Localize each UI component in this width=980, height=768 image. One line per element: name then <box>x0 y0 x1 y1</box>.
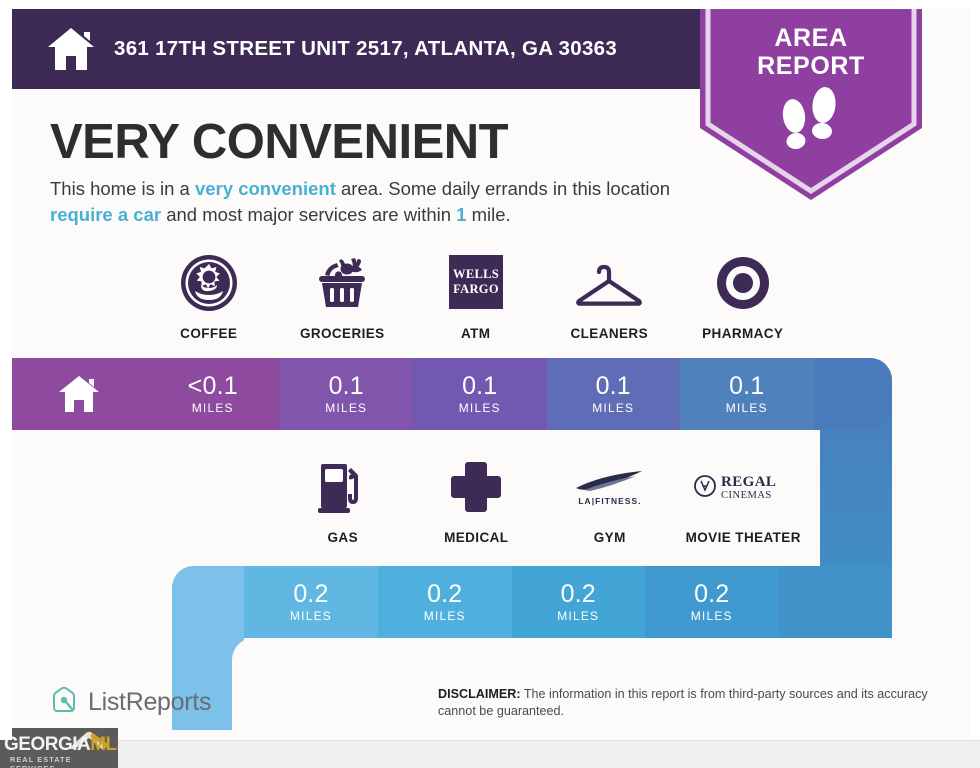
address-header: 361 17TH STREET UNIT 2517, ATLANTA, GA 3… <box>12 9 712 89</box>
clothes-hanger-icon <box>573 252 645 314</box>
bar2-tail-right <box>779 566 893 638</box>
distance-unit: MILES <box>424 609 466 623</box>
page-title: VERY CONVENIENT <box>50 114 508 170</box>
georgia-mls-watermark: GEORGIAMLS REAL ESTATE SERVICES <box>0 728 118 768</box>
distance-value: 0.1 <box>729 373 764 400</box>
distance-cell-groceries: 0.1 MILES <box>280 358 414 430</box>
amenity-icons-row-2: GAS MEDICAL LA|FITNESS. GYM <box>276 456 810 545</box>
watermark-title: GEORGIAMLS <box>4 734 118 756</box>
distance-unit: MILES <box>557 609 599 623</box>
amenity-label: GROCERIES <box>300 326 385 341</box>
distance-value: 0.1 <box>462 373 497 400</box>
la-fitness-wordmark: LA|FITNESS. <box>578 496 641 506</box>
amenity-label: MEDICAL <box>444 530 508 545</box>
starbucks-logo-icon <box>179 252 239 314</box>
regal-line-2: CINEMAS <box>721 490 772 501</box>
distance-unit: MILES <box>726 401 768 415</box>
amenity-coffee: COFFEE <box>142 252 276 341</box>
page-margin-right <box>970 0 980 740</box>
amenity-label: PHARMACY <box>702 326 783 341</box>
amenity-label: MOVIE THEATER <box>686 530 801 545</box>
area-report-page: 361 17TH STREET UNIT 2517, ATLANTA, GA 3… <box>0 0 980 768</box>
distance-unit: MILES <box>592 401 634 415</box>
summary-accent-convenient: very convenient <box>195 178 336 199</box>
distance-cell-atm: 0.1 MILES <box>413 358 547 430</box>
wells-fargo-line-1: WELLS <box>453 267 499 281</box>
regal-line-1: REGAL <box>721 474 776 490</box>
distance-bar-row-2: 0.2 MILES 0.2 MILES 0.2 MILES 0.2 MILES <box>172 566 892 638</box>
bar-tail-right <box>814 358 893 430</box>
summary-part-4: mile. <box>466 204 510 225</box>
distance-unit: MILES <box>192 401 234 415</box>
distance-unit: MILES <box>459 401 501 415</box>
listreports-tag-icon <box>50 686 78 719</box>
distance-value: <0.1 <box>188 373 238 400</box>
disclaimer-label: DISCLAIMER: <box>438 687 521 701</box>
amenity-label: COFFEE <box>180 326 237 341</box>
amenity-medical: MEDICAL <box>410 456 544 545</box>
badge-line-2: REPORT <box>700 52 922 80</box>
distance-value: 0.1 <box>596 373 631 400</box>
distance-unit: MILES <box>290 609 332 623</box>
watermark-mls: MLS <box>90 734 118 755</box>
page-margin-top <box>0 0 980 9</box>
home-icon <box>57 374 101 414</box>
badge-line-1: AREA <box>700 24 922 52</box>
page-margin-left <box>0 0 12 740</box>
badge-text: AREA REPORT <box>700 24 922 80</box>
listreports-logo: ListReports <box>50 686 211 719</box>
distance-unit: MILES <box>325 401 367 415</box>
summary-accent-require-car: require a car <box>50 204 161 225</box>
viewer-bottom-strip <box>0 740 980 768</box>
property-address: 361 17TH STREET UNIT 2517, ATLANTA, GA 3… <box>114 37 617 61</box>
distance-value: 0.2 <box>427 581 462 608</box>
amenity-label: GYM <box>594 530 626 545</box>
summary-part-2: area. Some daily errands in this locatio… <box>336 178 670 199</box>
bar-home-cell <box>12 358 146 430</box>
summary-text: This home is in a very convenient area. … <box>50 176 695 228</box>
grocery-basket-icon <box>311 252 373 314</box>
distance-cell-cleaners: 0.1 MILES <box>547 358 681 430</box>
home-icon <box>46 26 96 72</box>
amenity-cleaners: CLEANERS <box>543 252 677 341</box>
gas-pump-icon <box>315 456 371 518</box>
distance-cell-movie-theater: 0.2 MILES <box>645 566 779 638</box>
distance-value: 0.2 <box>293 581 328 608</box>
amenity-gym: LA|FITNESS. GYM <box>543 456 677 545</box>
watermark-georgia: GEORGIA <box>4 734 90 755</box>
amenity-icons-row-1: COFFEE <box>142 252 810 341</box>
amenity-label: ATM <box>461 326 490 341</box>
distance-cell-medical: 0.2 MILES <box>378 566 512 638</box>
regal-cinemas-logo-icon: REGAL CINEMAS <box>691 456 795 518</box>
summary-part-3: and most major services are within <box>161 204 456 225</box>
summary-accent-miles: 1 <box>456 204 466 225</box>
amenity-gas: GAS <box>276 456 410 545</box>
amenity-label: GAS <box>328 530 358 545</box>
distance-cell-coffee: <0.1 MILES <box>146 358 280 430</box>
amenity-movie-theater: REGAL CINEMAS MOVIE THEATER <box>677 456 811 545</box>
bar2-lead-cell <box>172 566 244 638</box>
distance-value: 0.2 <box>694 581 729 608</box>
amenity-pharmacy: PHARMACY <box>676 252 810 341</box>
watermark-subtitle: REAL ESTATE SERVICES <box>10 755 118 768</box>
distance-cell-gas: 0.2 MILES <box>244 566 378 638</box>
medical-cross-icon <box>448 456 504 518</box>
amenity-label: CLEANERS <box>571 326 648 341</box>
disclaimer: DISCLAIMER: The information in this repo… <box>438 686 948 720</box>
area-report-badge: AREA REPORT <box>700 0 922 200</box>
distance-value: 0.2 <box>561 581 596 608</box>
distance-value: 0.1 <box>329 373 364 400</box>
wells-fargo-line-2: FARGO <box>453 282 499 296</box>
distance-unit: MILES <box>691 609 733 623</box>
listreports-wordmark: ListReports <box>88 688 211 717</box>
target-bullseye-icon <box>714 252 772 314</box>
amenity-groceries: GROCERIES <box>276 252 410 341</box>
summary-part-1: This home is in a <box>50 178 195 199</box>
la-fitness-logo-icon: LA|FITNESS. <box>562 456 658 518</box>
wells-fargo-logo-icon: WELLS FARGO <box>446 252 506 314</box>
distance-cell-gym: 0.2 MILES <box>512 566 646 638</box>
distance-cell-pharmacy: 0.1 MILES <box>680 358 814 430</box>
distance-bar-row-1: <0.1 MILES 0.1 MILES 0.1 MILES 0.1 MILES… <box>12 358 892 430</box>
amenity-atm: WELLS FARGO ATM <box>409 252 543 341</box>
